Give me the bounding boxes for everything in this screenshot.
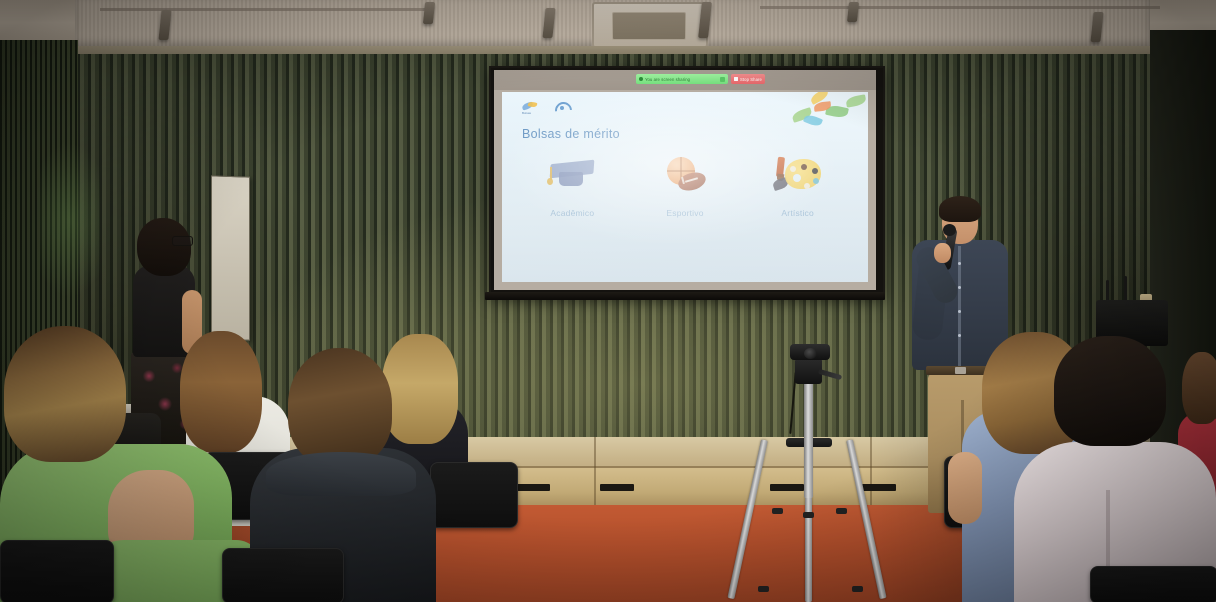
sharing-status-dot (639, 77, 643, 81)
tripod-lock-center (803, 512, 814, 518)
basketball-line-h (667, 170, 695, 172)
light-track-left (100, 8, 430, 11)
ac-diffuser-vent (612, 12, 686, 40)
slide-category-row: Acadêmico Esportivo (516, 152, 854, 218)
presentation-room-photo: You are screen sharing Stop Share Bolsas (0, 0, 1216, 602)
category-label-sports: Esportivo (666, 208, 703, 218)
audience-person-red-hair (1182, 352, 1216, 424)
tripod-foot-left (758, 586, 769, 592)
left-wall-highlight (40, 120, 100, 320)
chair-front-center (222, 548, 344, 602)
speaker-antenna-2 (1124, 276, 1127, 302)
presenter-belt-buckle (955, 367, 966, 374)
category-label-artistic: Artístico (781, 208, 814, 218)
leaf-green-3 (845, 94, 866, 107)
chair-front-right (1090, 566, 1216, 602)
sharing-status-label: You are screen sharing (645, 77, 718, 82)
sports-shape (659, 157, 711, 193)
stop-share-button[interactable]: Stop Share (731, 74, 765, 84)
logo-swoosh-arc (552, 99, 576, 123)
projection-screen: You are screen sharing Stop Share Bolsas (494, 70, 876, 290)
light-track-right (760, 6, 1160, 9)
audience-person-dark-jacket-hood (266, 452, 416, 496)
presenter-hand (934, 243, 951, 263)
cap-tassel-ball (547, 178, 553, 185)
stop-square-icon (734, 77, 738, 81)
palette-paint-1 (801, 164, 807, 170)
swoosh-logo-icon (553, 100, 570, 117)
palette-paint-4 (804, 183, 810, 189)
slide-category-artistic: Artístico (741, 152, 854, 218)
camera-lens-icon (804, 348, 817, 359)
chevron-down-icon[interactable] (720, 77, 725, 82)
audience-woman-green-top-hair (4, 326, 126, 462)
eyeglasses-icon (172, 236, 193, 246)
tripod-lock-left (772, 508, 783, 514)
logo-swoosh-dot (560, 106, 564, 110)
bird-wing-logo-icon: Bolsas (522, 100, 539, 117)
audience-person-dark-jacket-hair (288, 348, 392, 466)
audience-woman-blonde-black-hair (382, 334, 458, 444)
palette-shape (773, 157, 823, 193)
palette-thumb-hole (793, 174, 801, 182)
decorative-leaves (788, 92, 868, 136)
cap-crown (559, 172, 583, 186)
stop-share-label: Stop Share (740, 77, 762, 82)
artist-palette-icon (773, 152, 823, 198)
audience-man-white-shirt-hair (1054, 336, 1166, 446)
category-label-academic: Acadêmico (550, 208, 594, 218)
slide-title: Bolsas de mérito (522, 127, 620, 141)
slide-logo-group: Bolsas (522, 100, 570, 117)
audience-woman-white-top-hair (180, 331, 262, 453)
microphone-head-icon (943, 224, 956, 236)
chair-front-left (0, 540, 114, 602)
screen-sharing-indicator[interactable]: You are screen sharing (636, 74, 728, 84)
palette-paint-2 (812, 168, 818, 174)
graduation-cap-icon (548, 152, 596, 198)
tripod-foot-right (852, 586, 863, 592)
slide-category-academic: Acadêmico (516, 152, 629, 218)
cap-shape (548, 158, 596, 192)
tripod-center-column (804, 380, 813, 498)
screen-weight-bar (485, 292, 885, 300)
palette-paint-5 (790, 166, 796, 172)
chair-back-2 (430, 462, 518, 528)
sports-balls-icon (659, 152, 711, 198)
whiteboard-panel (211, 175, 250, 340)
track-light-5 (847, 2, 859, 22)
palette-paint-3 (813, 178, 819, 184)
slide-category-sports: Esportivo (629, 152, 742, 218)
presentation-slide: Bolsas Bolsas de mérito (502, 92, 868, 282)
presenter-hair (939, 196, 981, 222)
logo-caption: Bolsas (522, 111, 531, 115)
standing-woman-hair (137, 218, 191, 276)
audience-woman-blue-dress-arm (948, 452, 982, 524)
leaf-blue (803, 113, 823, 128)
tripod-lock-right (836, 508, 847, 514)
